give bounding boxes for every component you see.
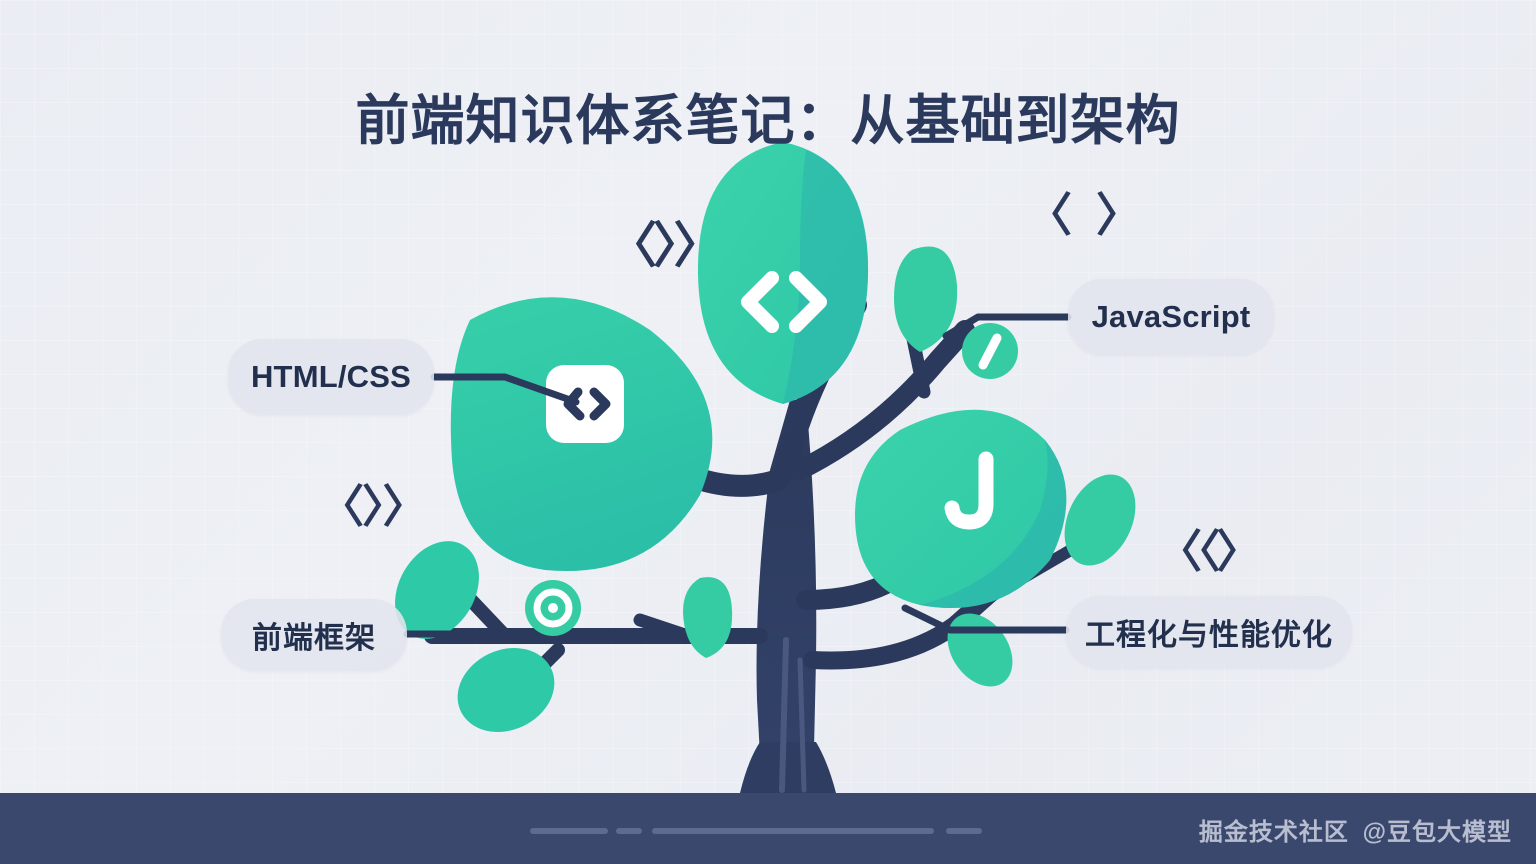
illustration-canvas: 前端知识体系笔记：从基础到架构: [0, 0, 1536, 864]
slash-circle-icon: [962, 323, 1018, 379]
leaf-small-middle-bottom: [683, 577, 732, 658]
ground-dash: [652, 828, 934, 834]
label-frontend-framework-text: 前端框架: [252, 613, 376, 657]
leaf-top-code: [698, 142, 868, 404]
label-frontend-framework[interactable]: 前端框架: [221, 599, 407, 671]
label-engineering-performance[interactable]: 工程化与性能优化: [1066, 596, 1352, 668]
label-javascript-text: JavaScript: [1092, 299, 1251, 335]
label-html-css-text: HTML/CSS: [251, 359, 411, 395]
ground-dash: [530, 828, 608, 834]
ground-dash: [946, 828, 982, 834]
target-circle-icon: [525, 580, 581, 636]
leaf-right-j: [855, 410, 1066, 608]
label-html-css[interactable]: HTML/CSS: [228, 339, 434, 415]
code-bracket-decoration-top-right: 〈 〉: [1026, 179, 1146, 245]
label-javascript[interactable]: JavaScript: [1068, 279, 1274, 355]
page-title: 前端知识体系笔记：从基础到架构: [0, 76, 1536, 155]
label-engineering-performance-text: 工程化与性能优化: [1085, 610, 1333, 654]
code-bracket-decoration-top-left: 〈〉〉: [608, 206, 719, 277]
watermark: 掘金技术社区 @豆包大模型: [1199, 812, 1512, 847]
code-card-icon: [546, 365, 624, 443]
ground-dash: [616, 828, 642, 834]
watermark-community: 掘金技术社区: [1199, 819, 1349, 846]
leaf-small-bottom-right: [934, 601, 1026, 699]
code-bracket-decoration-mid-left: 〈〉〉: [319, 470, 426, 535]
watermark-handle: @豆包大模型: [1363, 819, 1512, 846]
code-bracket-decoration-bottom-right: 〈〈〉: [1157, 515, 1258, 580]
